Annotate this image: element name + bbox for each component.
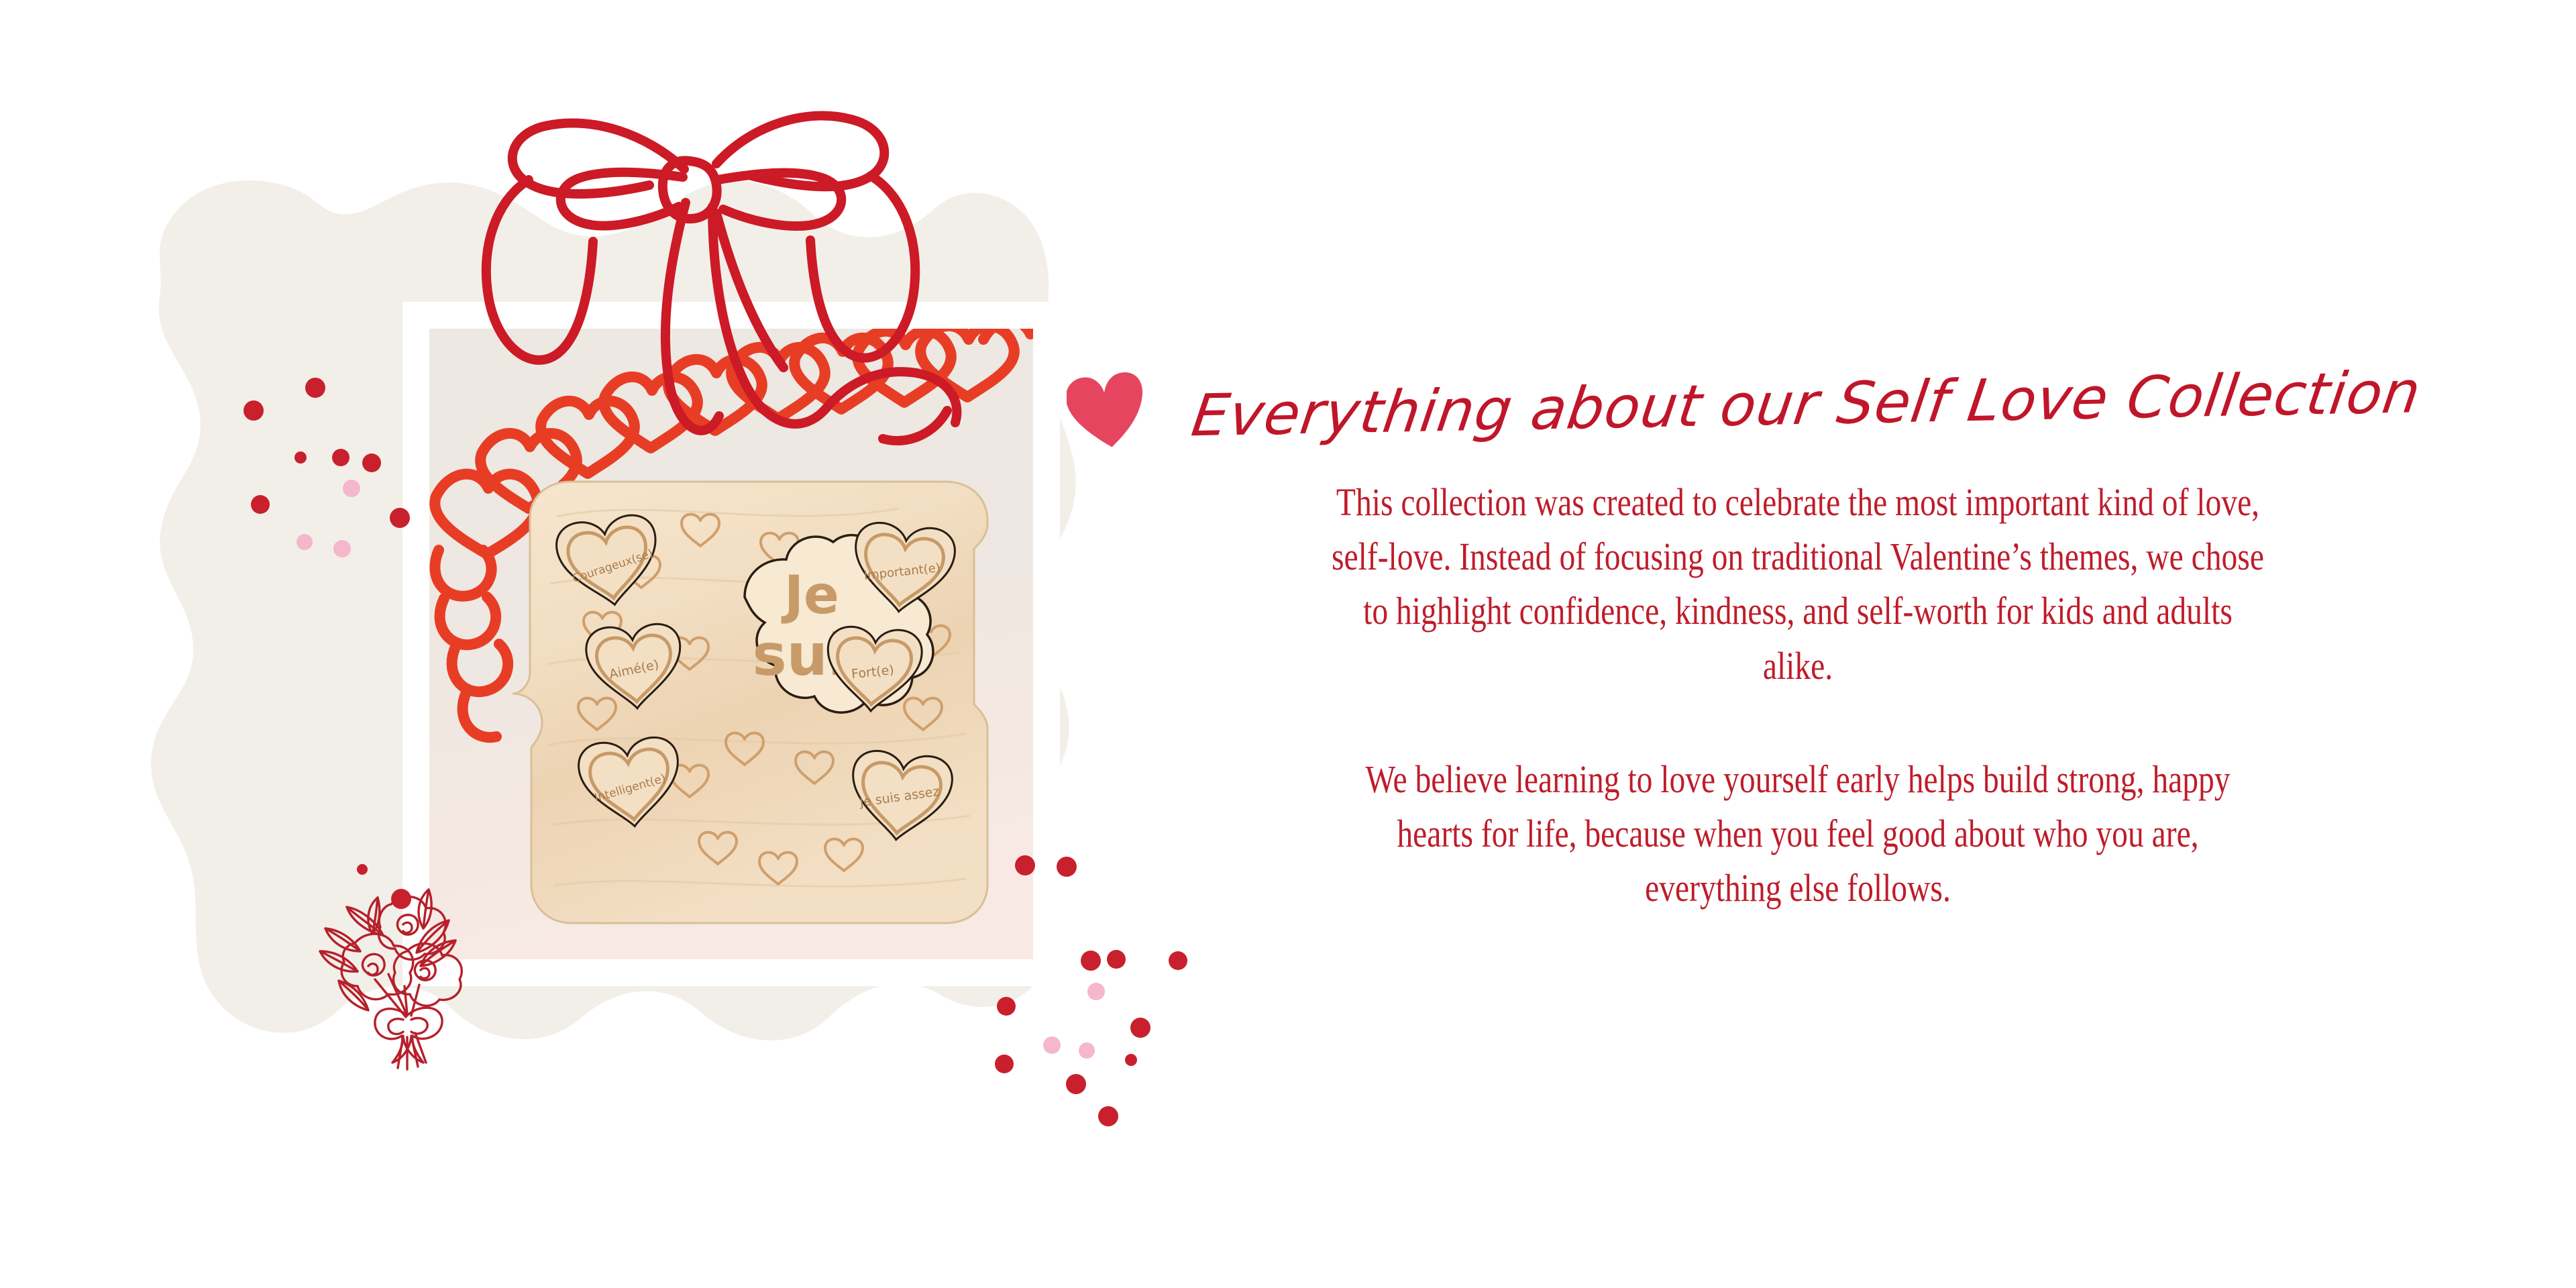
paragraph-spacer [1194, 693, 2402, 752]
article-paragraph-1: This collection was created to celebrate… [1303, 475, 2293, 693]
page-root: Je suis Courageux(se) [0, 0, 2576, 1288]
article-text-column: Everything about our Self Love Collectio… [1194, 376, 2402, 915]
article-paragraph-2: We believe learning to love yourself ear… [1303, 752, 2293, 916]
board-center-line1: Je [781, 566, 839, 626]
product-photo-artwork: Je suis Courageux(se) [429, 329, 1033, 959]
product-visual-panel: Je suis Courageux(se) [0, 0, 1261, 1288]
product-photo: Je suis Courageux(se) [429, 329, 1033, 959]
heart-icon [1067, 372, 1147, 449]
wooden-board: Je suis Courageux(se) [513, 482, 987, 923]
rose-bouquet-icon [305, 872, 506, 1073]
page-title: Everything about our Self Love Collectio… [1188, 364, 2407, 445]
